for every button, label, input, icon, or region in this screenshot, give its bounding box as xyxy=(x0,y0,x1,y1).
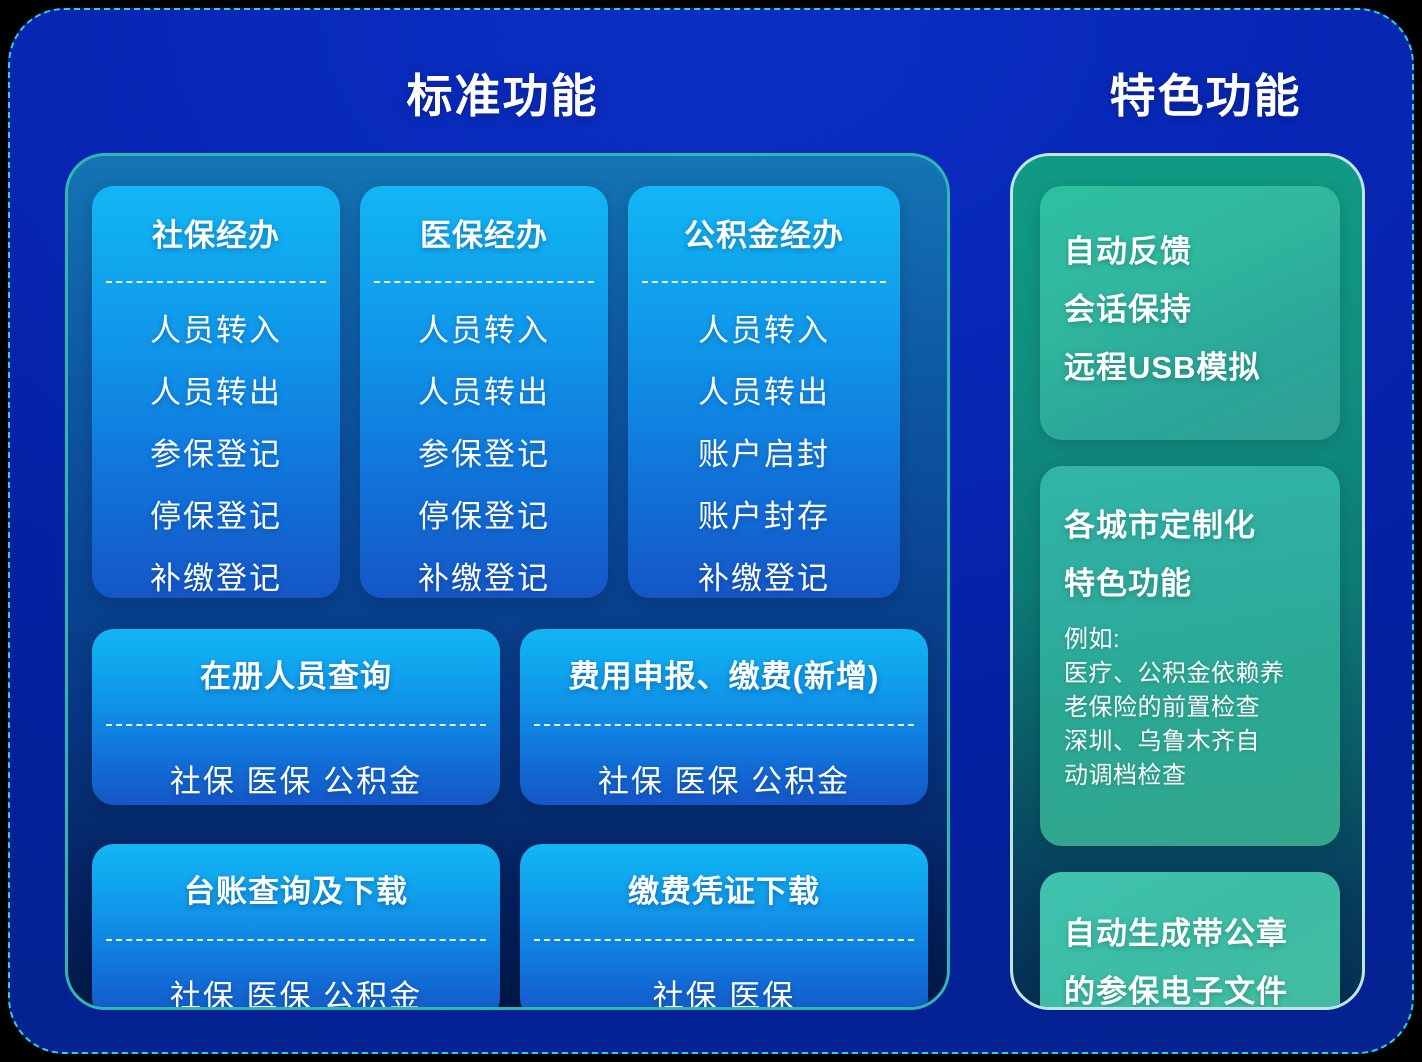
card-city-customization[interactable]: 各城市定制化 特色功能 例如: 医疗、公积金依赖养 老保险的前置检查 深圳、乌鲁… xyxy=(1040,466,1340,846)
card-divider xyxy=(534,939,914,941)
list-item: 人员转出 xyxy=(92,367,340,412)
list-item: 补缴登记 xyxy=(628,553,900,598)
poster-container: 标准功能 特色功能 社保经办 人员转入 人员转出 参保登记 停保登记 补缴登记 … xyxy=(8,8,1414,1054)
description-line: 医疗、公积金依赖养 xyxy=(1064,657,1316,691)
description-line: 例如: xyxy=(1064,623,1316,657)
scope-text: 社保 医保 公积金 xyxy=(520,756,928,801)
card-ledger-query-download[interactable]: 台账查询及下载 社保 医保 公积金 xyxy=(92,844,500,1010)
card-title: 医保经办 xyxy=(360,210,608,255)
card-divider xyxy=(534,724,914,726)
list-item: 人员转出 xyxy=(628,367,900,412)
card-scope: 社保 医保 公积金 xyxy=(92,756,500,801)
card-scope: 社保 医保 公积金 xyxy=(92,971,500,1010)
card-item-list: 人员转入 人员转出 参保登记 停保登记 补缴登记 xyxy=(92,305,340,598)
feature-section-title: 特色功能 xyxy=(995,60,1414,126)
list-item: 账户封存 xyxy=(628,491,900,536)
card-divider xyxy=(106,939,486,941)
card-housing-fund[interactable]: 公积金经办 人员转入 人员转出 账户启封 账户封存 补缴登记 xyxy=(628,186,900,598)
card-roster-query[interactable]: 在册人员查询 社保 医保 公积金 xyxy=(92,629,500,805)
card-scope: 社保 医保 公积金 xyxy=(520,756,928,801)
card-title: 费用申报、缴费(新增) xyxy=(520,651,928,696)
feature-description: 例如: 医疗、公积金依赖养 老保险的前置检查 深圳、乌鲁木齐自 动调档检查 xyxy=(1064,623,1316,793)
feature-line: 的参保电子文件 xyxy=(1064,966,1316,1010)
card-social-insurance[interactable]: 社保经办 人员转入 人员转出 参保登记 停保登记 补缴登记 xyxy=(92,186,340,598)
list-item: 停保登记 xyxy=(92,491,340,536)
card-divider xyxy=(106,281,326,283)
scope-text: 社保 医保 公积金 xyxy=(92,971,500,1010)
standard-functions-panel: 社保经办 人员转入 人员转出 参保登记 停保登记 补缴登记 医保经办 人员转入 … xyxy=(65,153,950,1010)
card-item-list: 人员转入 人员转出 账户启封 账户封存 补缴登记 xyxy=(628,305,900,598)
scope-text: 社保 医保 公积金 xyxy=(92,756,500,801)
description-line: 老保险的前置检查 xyxy=(1064,691,1316,725)
card-title: 缴费凭证下载 xyxy=(520,866,928,911)
feature-line: 自动反馈 xyxy=(1064,226,1316,271)
list-item: 停保登记 xyxy=(360,491,608,536)
feature-title-line: 特色功能 xyxy=(1064,558,1316,603)
card-scope: 社保 医保 xyxy=(520,971,928,1010)
card-medical-insurance[interactable]: 医保经办 人员转入 人员转出 参保登记 停保登记 补缴登记 xyxy=(360,186,608,598)
card-divider xyxy=(374,281,594,283)
description-line: 深圳、乌鲁木齐自 xyxy=(1064,725,1316,759)
list-item: 人员转出 xyxy=(360,367,608,412)
card-sealed-efile[interactable]: 自动生成带公章 的参保电子文件 xyxy=(1040,872,1340,1010)
card-divider xyxy=(642,281,886,283)
description-line: 动调档检查 xyxy=(1064,759,1316,793)
scope-text: 社保 医保 xyxy=(520,971,928,1010)
card-payment-voucher-download[interactable]: 缴费凭证下载 社保 医保 xyxy=(520,844,928,1010)
feature-line: 远程USB模拟 xyxy=(1064,342,1316,387)
card-title: 社保经办 xyxy=(92,210,340,255)
card-fee-declaration-payment[interactable]: 费用申报、缴费(新增) 社保 医保 公积金 xyxy=(520,629,928,805)
list-item: 参保登记 xyxy=(92,429,340,474)
list-item: 人员转入 xyxy=(92,305,340,350)
card-title: 公积金经办 xyxy=(628,210,900,255)
list-item: 补缴登记 xyxy=(92,553,340,598)
list-item: 补缴登记 xyxy=(360,553,608,598)
list-item: 人员转入 xyxy=(360,305,608,350)
feature-functions-panel: 自动反馈 会话保持 远程USB模拟 各城市定制化 特色功能 例如: 医疗、公积金… xyxy=(1010,153,1365,1010)
feature-line: 会话保持 xyxy=(1064,284,1316,329)
card-divider xyxy=(106,724,486,726)
card-title: 台账查询及下载 xyxy=(92,866,500,911)
list-item: 账户启封 xyxy=(628,429,900,474)
standard-section-title: 标准功能 xyxy=(10,60,995,126)
list-item: 参保登记 xyxy=(360,429,608,474)
feature-line: 自动生成带公章 xyxy=(1064,908,1316,953)
card-item-list: 人员转入 人员转出 参保登记 停保登记 补缴登记 xyxy=(360,305,608,598)
feature-title-line: 各城市定制化 xyxy=(1064,500,1316,545)
card-automation-features[interactable]: 自动反馈 会话保持 远程USB模拟 xyxy=(1040,186,1340,440)
list-item: 人员转入 xyxy=(628,305,900,350)
card-title: 在册人员查询 xyxy=(92,651,500,696)
